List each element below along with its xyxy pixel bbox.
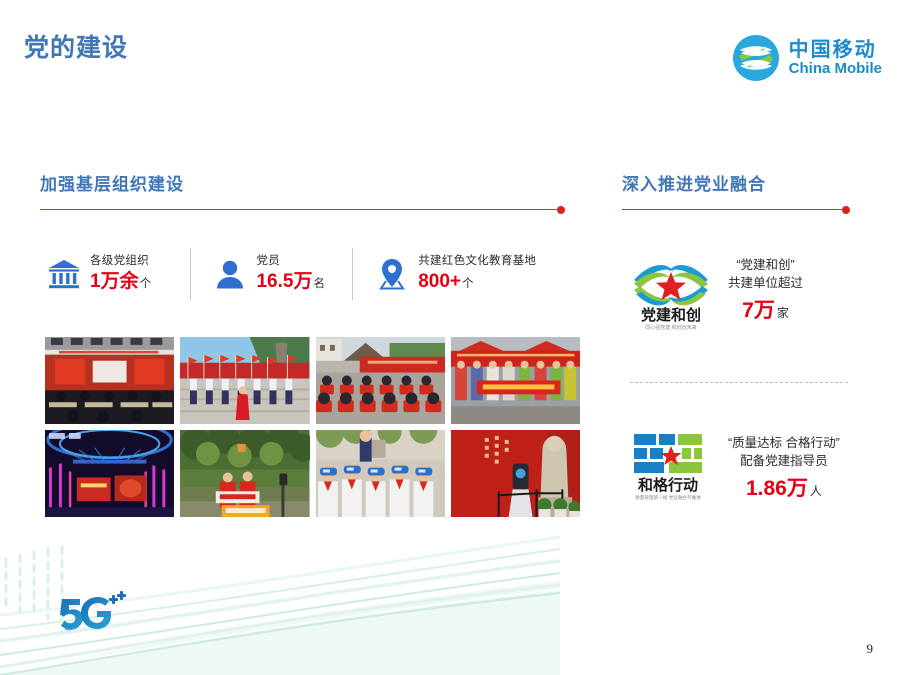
- section-title-right: 深入推进党业融合: [622, 170, 850, 195]
- rule-line: [622, 209, 842, 210]
- photo-conference-hall: [45, 337, 174, 424]
- stat-value-group: 800+ 个: [418, 271, 536, 293]
- page-title: 党的建设: [24, 28, 128, 64]
- card-line-2: 配备党建指导员: [740, 452, 828, 471]
- card-divider: [630, 382, 848, 383]
- slide-root: 党的建设 中国移动 China Mobile 加强基层组织建设 深入推进党业融合: [0, 0, 900, 675]
- logo-subtext: 质量管理第一线 党业融合齐推进: [635, 494, 701, 501]
- card-dangjian-hechuang: 党建和创 同心强党建 和创创未来 “党建和创” 共建单位超过 7万 家: [628, 250, 803, 332]
- rule-end-dot: [842, 206, 850, 214]
- photo-statue-robot: [451, 430, 580, 517]
- card-value-group: 7万 家: [742, 295, 789, 327]
- stat-item-education-bases: 共建红色文化教育基地 800+ 个: [353, 255, 580, 292]
- stat-unit: 个: [462, 278, 474, 291]
- map-pin-icon: [375, 256, 409, 292]
- china-mobile-logo-icon: [732, 34, 780, 82]
- stat-value-group: 16.5万 名: [256, 271, 324, 293]
- stat-label: 各级党组织: [90, 255, 151, 268]
- stat-unit: 个: [140, 278, 152, 291]
- person-icon: [213, 256, 247, 292]
- logo-subtext: 同心强党建 和创创未来: [645, 324, 696, 331]
- section-header-left: 加强基层组织建设: [40, 170, 565, 214]
- page-number: 9: [867, 641, 874, 657]
- stat-label: 共建红色文化教育基地: [418, 255, 536, 268]
- section-title-left: 加强基层组织建设: [40, 170, 565, 195]
- photo-led-studio: [45, 430, 174, 517]
- stats-row: 各级党组织 1万余 个 党员 16.5万 名: [45, 243, 580, 305]
- section-rule-right: [622, 205, 850, 214]
- photo-grid: [45, 337, 580, 517]
- photo-orchard-livestream: [180, 430, 309, 517]
- photo-flag-ceremony: [180, 337, 309, 424]
- brand-name-en: China Mobile: [789, 61, 882, 77]
- card-line-1: “党建和创”: [736, 256, 794, 275]
- card-text-block: “质量达标 合格行动” 配备党建指导员 1.86万 人: [728, 434, 840, 505]
- 5g-plus-plus-logo: [52, 589, 130, 637]
- hege-xingdong-logo: 和格行动 质量管理第一线 党业融合齐推进: [628, 428, 714, 510]
- photo-outdoor-assembly: [316, 337, 445, 424]
- section-header-right: 深入推进党业融合: [622, 170, 850, 214]
- section-rule-left: [40, 205, 565, 214]
- photo-volunteer-banner: [451, 337, 580, 424]
- card-text-block: “党建和创” 共建单位超过 7万 家: [728, 256, 803, 327]
- bank-building-icon: [47, 256, 81, 292]
- stat-label: 党员: [256, 255, 324, 268]
- logo-text: 党建和创: [641, 306, 701, 324]
- card-number: 7万: [742, 295, 775, 327]
- stat-item-party-organizations: 各级党组织 1万余 个: [45, 255, 190, 292]
- stat-item-party-members: 党员 16.5万 名: [191, 255, 352, 292]
- card-value-group: 1.86万 人: [746, 473, 822, 505]
- stat-number: 800+: [418, 271, 461, 293]
- stat-number: 1万余: [90, 271, 139, 293]
- card-unit: 家: [777, 304, 789, 322]
- brand-name-cn: 中国移动: [789, 40, 882, 61]
- card-hege-xingdong: 和格行动 质量管理第一线 党业融合齐推进 “质量达标 合格行动” 配备党建指导员…: [628, 428, 840, 510]
- card-line-2: 共建单位超过: [728, 274, 803, 293]
- stat-value-group: 1万余 个: [90, 271, 151, 293]
- stat-number: 16.5万: [256, 271, 312, 293]
- rule-line: [40, 209, 557, 210]
- card-number: 1.86万: [746, 473, 808, 505]
- photo-students-vr: [316, 430, 445, 517]
- stat-unit: 名: [313, 278, 325, 291]
- logo-text: 和格行动: [638, 476, 698, 494]
- card-unit: 人: [810, 482, 822, 500]
- card-line-1: “质量达标 合格行动”: [728, 434, 840, 453]
- china-mobile-brand: 中国移动 China Mobile: [732, 34, 882, 82]
- rule-end-dot: [557, 206, 565, 214]
- dangjian-hechuang-logo: 党建和创 同心强党建 和创创未来: [628, 250, 714, 332]
